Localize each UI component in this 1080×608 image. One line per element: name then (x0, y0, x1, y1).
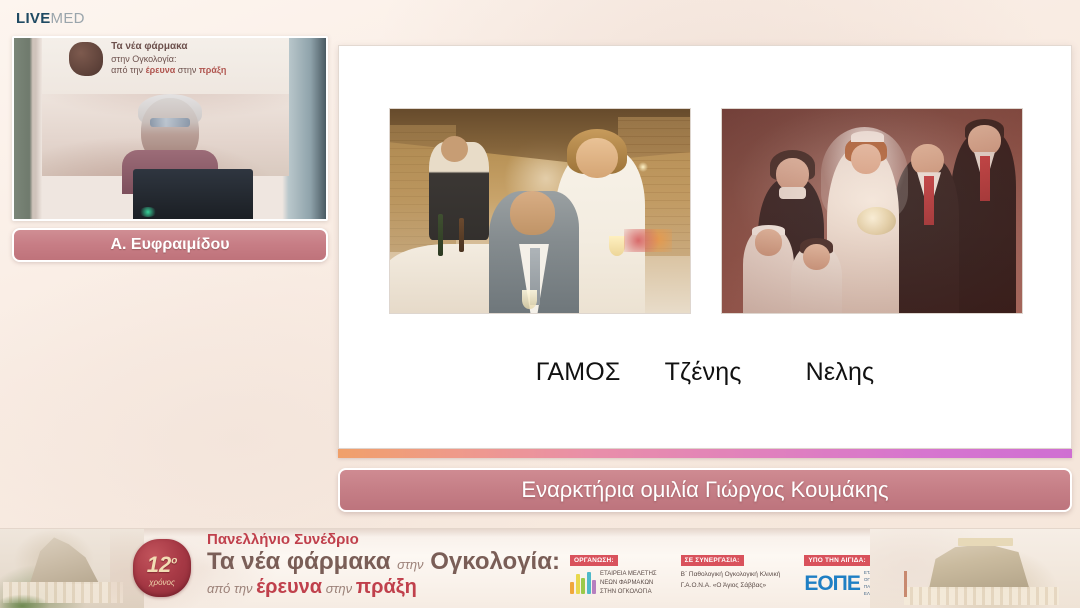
conference-footer: 12ο χρόνος Πανελλήνιο Συνέδριο Τα νέα φά… (0, 528, 1080, 608)
app-stage: LIVEMED Τα νέα φάρμακα στην Ογκολογία: α… (0, 0, 1080, 608)
logo-bar-5 (592, 580, 596, 594)
partner-organizer-tag: ΟΡΓΑΝΩΣΗ: (570, 555, 618, 566)
parthenon-shape (958, 538, 1013, 546)
video-banner-line1: Τα νέα φάρμακα (111, 41, 264, 54)
video-banner-line2-main: Ογκολογία: (132, 54, 176, 64)
slide-photo-row (389, 108, 1023, 314)
partner-collaboration-tag: ΣΕ ΣΥΝΕΡΓΑΣΙΑ: (681, 555, 744, 566)
partner-collaboration-name: Β΄ Παθολογική Ογκολογική Κλινική Γ.Α.Ο.Ν… (681, 570, 781, 591)
footer-title-line3-a: από την (207, 581, 256, 596)
photo1-waiter-head (441, 136, 468, 163)
photo-vintage-wedding (721, 108, 1023, 314)
video-banner-seal-icon (69, 42, 103, 76)
session-title-bar: Εναρκτήρια ομιλία Γιώργος Κουμάκης (338, 468, 1072, 512)
video-banner-line2-pre: στην (111, 54, 132, 64)
footer-title-line3-big2: πράξη (356, 576, 417, 598)
partner-collaboration-row: Β΄ Παθολογική Ογκολογική Κλινική Γ.Α.Ο.Ν… (681, 570, 781, 591)
photo2-vintage-fade (722, 109, 1022, 313)
speaker-glasses-icon (150, 118, 190, 127)
footer-right-illustration (870, 528, 1080, 608)
footer-left-trees (0, 587, 87, 608)
logo-bar-1 (570, 582, 574, 594)
footer-title-line2-a: Τα νέα φάρμακα (207, 548, 397, 575)
partner-collaboration: ΣΕ ΣΥΝΕΡΓΑΣΙΑ: Β΄ Παθολογική Ογκολογική … (681, 549, 781, 598)
presentation-slide[interactable]: ΓΑΜΟΣΤζένηςΝελης (338, 45, 1072, 449)
seal-number-value: 12 (147, 552, 171, 577)
logo-bar-2 (576, 574, 580, 594)
seal-number: 12ο (133, 552, 191, 578)
logo-bar-3 (581, 578, 585, 594)
footer-title-line3-mid: στην (322, 581, 356, 596)
video-banner-line3-pre: από την (111, 65, 145, 75)
video-banner-text: Τα νέα φάρμακα στην Ογκολογία: από την έ… (111, 41, 264, 76)
emefa-logo-icon (570, 572, 596, 594)
photo1-man-head (510, 191, 555, 236)
footer-title-line2-small: στην (397, 557, 423, 572)
speaker-name-badge: Α. Ευφραιμίδου (12, 228, 328, 262)
slide-caption-word-1: ΓΑΜΟΣ (536, 358, 621, 387)
logo-med-text: MED (51, 10, 85, 27)
slide-caption-word-2: Τζένης (665, 358, 742, 387)
livemed-logo[interactable]: LIVEMED (16, 10, 85, 27)
eope-logo-icon: ΕΟΠΕ (804, 572, 860, 596)
slide-caption: ΓΑΜΟΣΤζένηςΝελης (339, 358, 1071, 387)
anniversary-seal-icon: 12ο χρόνος (133, 539, 191, 597)
footer-title-line3-big: έρευνα (256, 576, 322, 598)
slide-accent-bar (338, 449, 1072, 458)
photo1-wine-glass-a (609, 236, 625, 256)
video-banner-line3-hl1: έρευνα (146, 65, 176, 75)
slide-caption-word-3: Νελης (806, 358, 875, 387)
footer-right-town (904, 587, 1059, 605)
seal-subtitle: χρόνος (133, 578, 191, 587)
footer-partners: ΟΡΓΑΝΩΣΗ: ΕΤΑΙΡΕΙΑ ΜΕΛΕΤΗΣ ΝΕΩΝ ΦΑΡΜΑΚΩΝ… (570, 549, 893, 598)
seal-ordinal: ο (171, 556, 177, 567)
footer-left-rock (21, 534, 108, 584)
speaker-panel: Τα νέα φάρμακα στην Ογκολογία: από την έ… (12, 36, 328, 262)
logo-live-text: LIVE (16, 10, 51, 27)
logo-bar-4 (587, 572, 591, 594)
photo1-lamp (638, 162, 648, 172)
footer-title-line1: Πανελλήνιο Συνέδριο (207, 531, 560, 548)
video-banner-line2: στην Ογκολογία: (111, 54, 264, 65)
footer-title-line2: Τα νέα φάρμακα στην Ογκολογία: (207, 549, 560, 574)
partner-organizer-name: ΕΤΑΙΡΕΙΑ ΜΕΛΕΤΗΣ ΝΕΩΝ ΦΑΡΜΑΚΩΝ ΣΤΗΝ ΟΓΚΟ… (600, 570, 657, 596)
photo-modern-wedding (389, 108, 691, 314)
footer-title-line3: από την έρευνα στην πράξη (207, 574, 560, 600)
speaker-video[interactable]: Τα νέα φάρμακα στην Ογκολογία: από την έ… (12, 36, 328, 221)
photo1-bottle-b (459, 218, 464, 252)
photo1-wine-glass-b (522, 290, 537, 309)
acropolis-rock (925, 539, 1034, 589)
photo1-bride-head (576, 138, 618, 179)
laptop-led-glow (139, 207, 157, 217)
photo1-bottle-a (438, 214, 443, 256)
footer-title-line2-b: Ογκολογία: (424, 548, 560, 575)
footer-right-spire (904, 571, 907, 597)
partner-auspices-tag: ΥΠΟ ΤΗΝ ΑΙΓΙΔΑ: (804, 555, 870, 566)
photo1-flowers (624, 229, 672, 251)
partner-organizer-row: ΕΤΑΙΡΕΙΑ ΜΕΛΕΤΗΣ ΝΕΩΝ ΦΑΡΜΑΚΩΝ ΣΤΗΝ ΟΓΚΟ… (570, 570, 657, 596)
video-banner-line3: από την έρευνα στην πράξη (111, 65, 264, 76)
video-banner-line3-hl2: πράξη (199, 65, 227, 75)
footer-congress-title: Πανελλήνιο Συνέδριο Τα νέα φάρμακα στην … (207, 531, 560, 600)
partner-organizer: ΟΡΓΑΝΩΣΗ: ΕΤΑΙΡΕΙΑ ΜΕΛΕΤΗΣ ΝΕΩΝ ΦΑΡΜΑΚΩΝ… (570, 549, 657, 598)
video-banner-line3-mid: στην (175, 65, 199, 75)
